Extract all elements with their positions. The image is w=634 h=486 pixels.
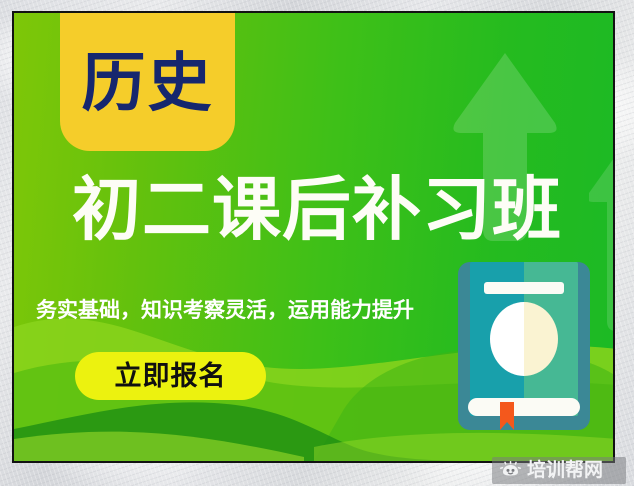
watermark: 培训帮网 [492, 457, 626, 484]
subject-badge: 历史 [60, 11, 235, 151]
subject-badge-label: 历史 [82, 52, 214, 116]
page-background: 历史 初二课后补习班 务实基础，知识考察灵活，运用能力提升 立即报名 [0, 0, 634, 486]
banner-subtitle: 务实基础，知识考察灵活，运用能力提升 [36, 294, 414, 324]
watermark-text: 培训帮网 [527, 461, 603, 480]
sun-face-icon [500, 461, 521, 480]
course-promo-banner: 历史 初二课后补习班 务实基础，知识考察灵活，运用能力提升 立即报名 [12, 11, 615, 463]
book-icon [458, 262, 590, 430]
enroll-now-label: 立即报名 [115, 363, 227, 390]
enroll-now-button[interactable]: 立即报名 [75, 352, 266, 400]
page-title: 初二课后补习班 [22, 176, 612, 245]
